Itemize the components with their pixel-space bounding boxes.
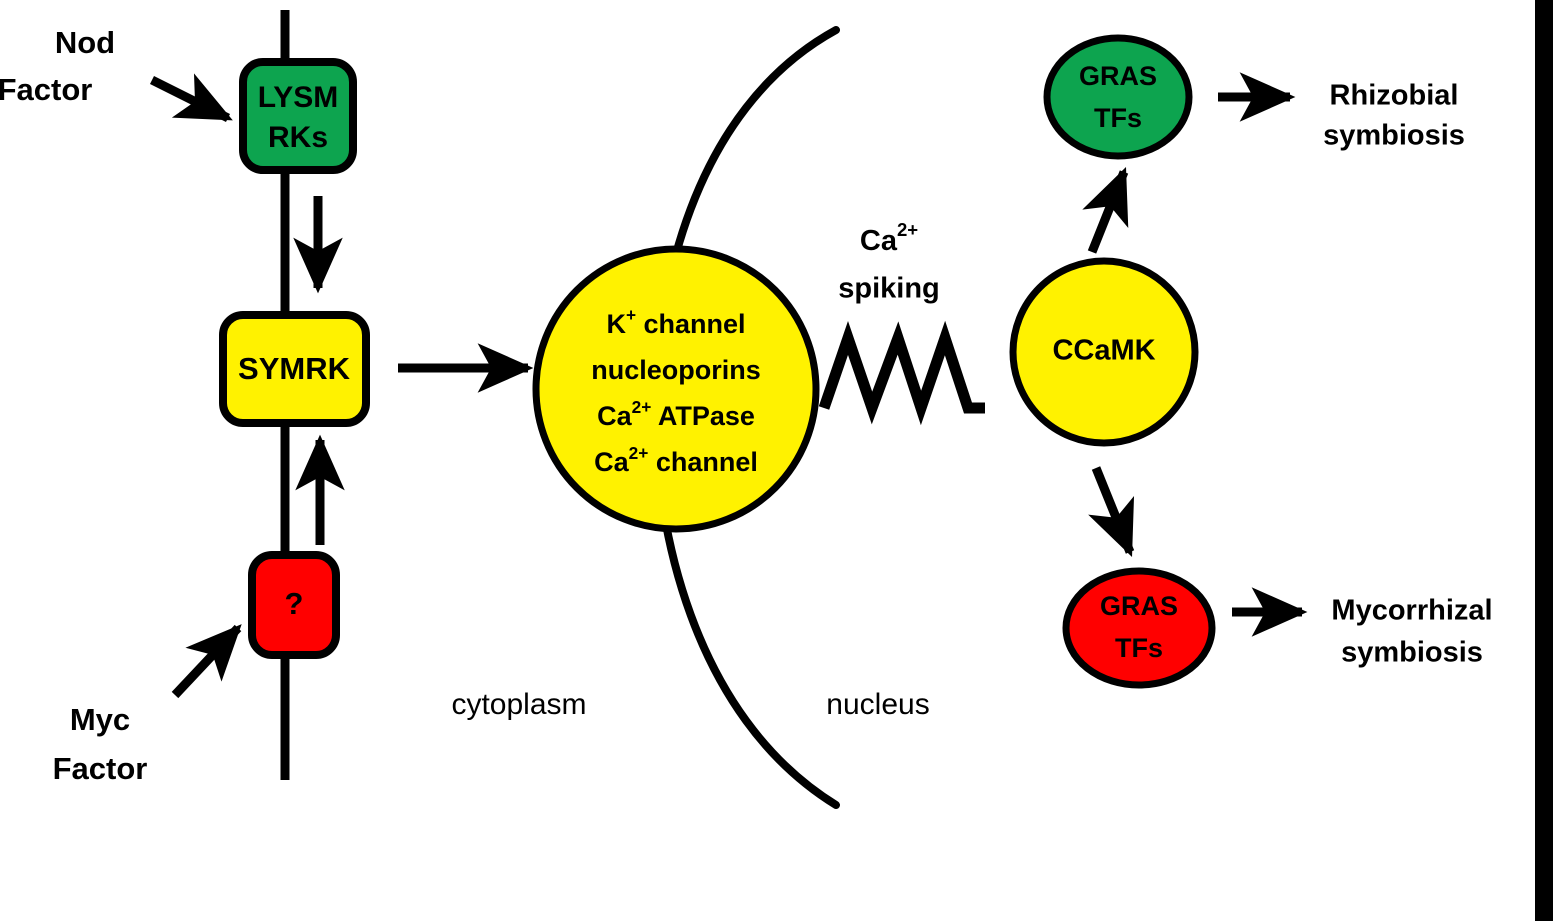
ccamk-label: CCaMK <box>1052 335 1155 367</box>
gras-tfs-red-node[interactable] <box>1066 571 1212 685</box>
gras-tfs-red-label-line1: GRAS <box>1100 591 1178 621</box>
nod-factor-label-line1: Nod <box>55 25 115 60</box>
myc-factor-label-line2: Factor <box>53 751 148 786</box>
unknown-receptor-label: ? <box>285 586 304 621</box>
gras-tfs-green-label-line2: TFs <box>1094 103 1142 133</box>
lysm-rks-label-line2: RKs <box>268 121 328 154</box>
cytoplasm-label: cytoplasm <box>451 688 586 721</box>
myc-factor-label-line1: Myc <box>70 702 130 737</box>
lysm-rks-label-line1: LYSM <box>258 81 339 114</box>
nuclear-components-line-3: Ca2+ ATPase <box>597 397 755 432</box>
right-edge-band <box>1535 0 1553 921</box>
nod-factor-to-lysm-arrow <box>152 80 228 118</box>
mycorrhizal-symbiosis-label-line1: Mycorrhizal <box>1331 595 1492 627</box>
gras-tfs-red-label-line2: TFs <box>1115 633 1163 663</box>
nuclear-components-line-4: Ca2+ channel <box>594 443 758 478</box>
diagram-canvas: LYSM RKs Nod Factor SYMRK ? Myc Factor K… <box>0 0 1553 921</box>
signalling-pathway-diagram: LYSM RKs Nod Factor SYMRK ? Myc Factor K… <box>0 0 1553 921</box>
nod-factor-label-line2: Factor <box>0 72 92 107</box>
gras-tfs-green-label-line1: GRAS <box>1079 61 1157 91</box>
rhizobial-symbiosis-label-line1: Rhizobial <box>1330 80 1459 112</box>
gras-tfs-green-node[interactable] <box>1047 38 1189 156</box>
ccamk-to-gras-red-arrow <box>1096 468 1130 552</box>
myc-factor-to-unknown-arrow <box>175 628 238 695</box>
rhizobial-symbiosis-label-line2: symbiosis <box>1323 120 1465 152</box>
calcium-spiking-waveform <box>824 338 985 408</box>
nuclear-components-node[interactable] <box>536 249 816 529</box>
ca-spiking-label-line1: Ca2+ <box>860 219 918 256</box>
symrk-label: SYMRK <box>238 351 351 386</box>
nuclear-components-line-2: nucleoporins <box>591 355 761 385</box>
nucleus-label: nucleus <box>826 688 929 721</box>
mycorrhizal-symbiosis-label-line2: symbiosis <box>1341 637 1483 669</box>
ca-spiking-label-line2: spiking <box>838 273 940 305</box>
ccamk-to-gras-green-arrow <box>1092 172 1124 252</box>
